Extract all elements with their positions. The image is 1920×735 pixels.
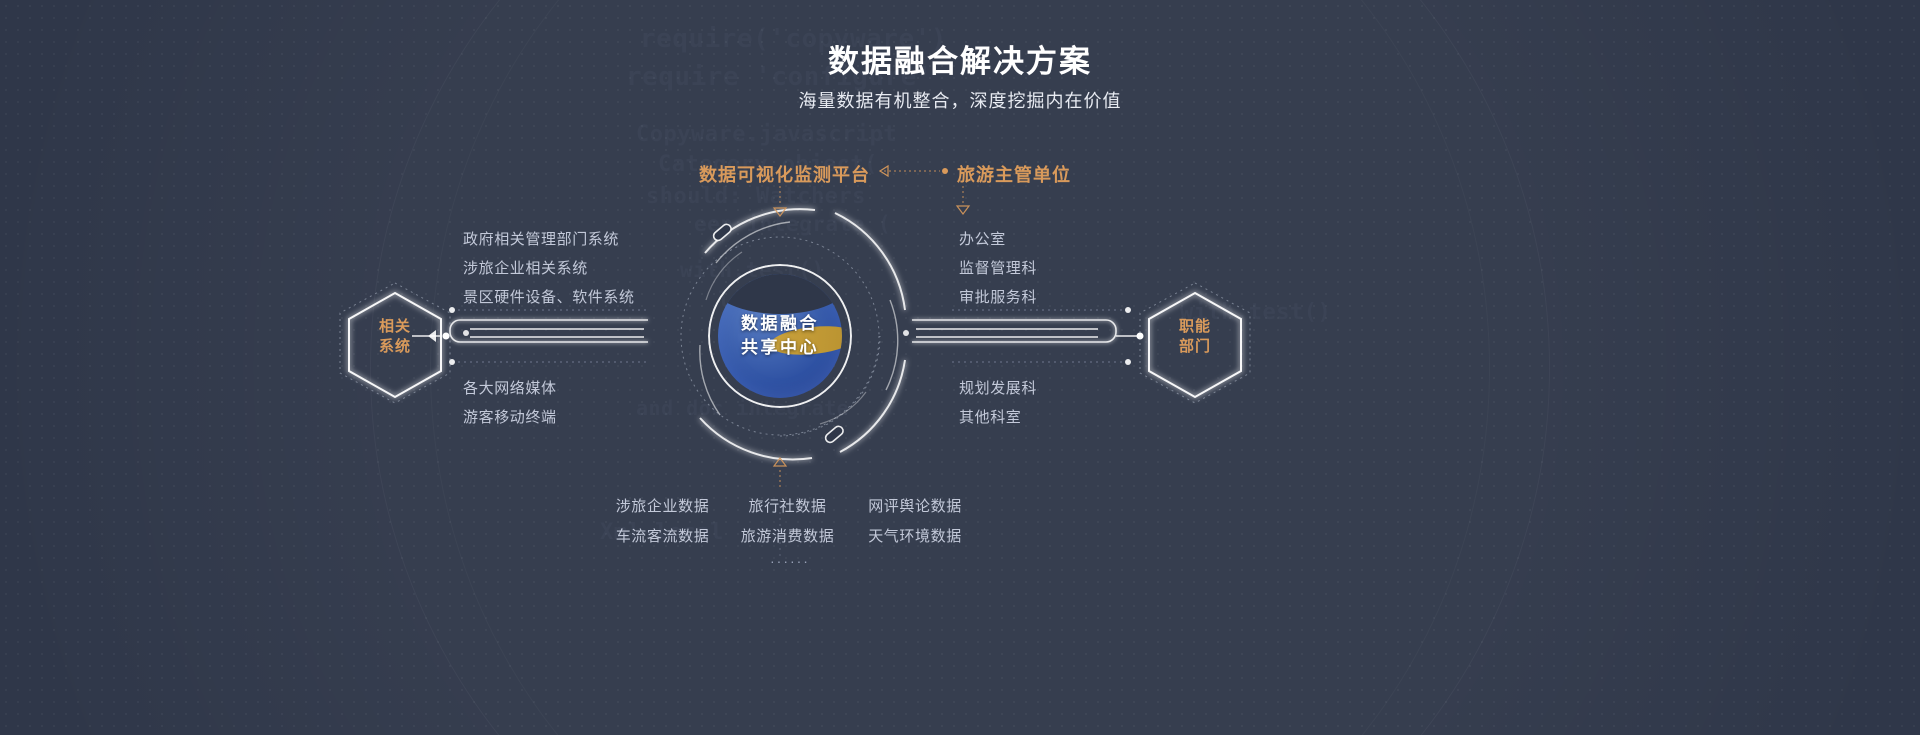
node-related-systems-label: 相关 系统 [335,317,455,357]
data-row: 涉旅企业数据 旅行社数据 网评舆论数据 [600,492,980,522]
bottom-data-grid: 涉旅企业数据 旅行社数据 网评舆论数据 车流客流数据 旅游消费数据 天气环境数据 [600,492,980,552]
data-cell: 旅游消费数据 [725,522,850,552]
list-item: 其他科室 [959,403,1037,432]
list-item: 游客移动终端 [463,403,557,432]
data-ellipsis: ······ [600,553,980,569]
list-item: 各大网络媒体 [463,374,557,403]
node-label-line-2: 部门 [1135,337,1255,357]
list-item: 涉旅企业相关系统 [463,254,635,283]
center-node-data-fusion-hub[interactable]: 数据融合 共享中心 [718,274,842,398]
list-item: 政府相关管理部门系统 [463,225,635,254]
infographic-canvas: require('copyware') require 'configure' … [0,0,1920,735]
node-functional-departments[interactable]: 职能 部门 [1135,277,1255,397]
right-departments-bottom-list: 规划发展科 其他科室 [959,374,1037,432]
node-label-line-1: 职能 [1135,317,1255,337]
node-label-line-1: 相关 [335,317,455,337]
node-related-systems[interactable]: 相关 系统 [335,277,455,397]
page-title: 数据融合解决方案 [0,36,1920,81]
list-item: 规划发展科 [959,374,1037,403]
list-item: 审批服务科 [959,283,1037,312]
center-label-line-2: 共享中心 [718,336,842,360]
list-item: 办公室 [959,225,1037,254]
data-cell: 涉旅企业数据 [600,492,725,522]
data-cell: 天气环境数据 [850,522,980,552]
data-row: 车流客流数据 旅游消费数据 天气环境数据 [600,522,980,552]
node-label-line-2: 系统 [335,337,455,357]
list-item: 监督管理科 [959,254,1037,283]
data-cell: 网评舆论数据 [850,492,980,522]
node-functional-departments-label: 职能 部门 [1135,317,1255,357]
label-visualization-platform: 数据可视化监测平台 [699,161,870,187]
left-sources-bottom-list: 各大网络媒体 游客移动终端 [463,374,557,432]
right-departments-top-list: 办公室 监督管理科 审批服务科 [959,225,1037,312]
data-cell: 旅行社数据 [725,492,850,522]
center-label-line-1: 数据融合 [718,312,842,336]
center-node-label: 数据融合 共享中心 [718,312,842,360]
left-sources-top-list: 政府相关管理部门系统 涉旅企业相关系统 景区硬件设备、软件系统 [463,225,635,312]
page-subtitle: 海量数据有机整合，深度挖掘内在价值 [0,87,1920,113]
list-item: 景区硬件设备、软件系统 [463,283,635,312]
data-cell: 车流客流数据 [600,522,725,552]
label-tourism-authority: 旅游主管单位 [957,161,1071,187]
